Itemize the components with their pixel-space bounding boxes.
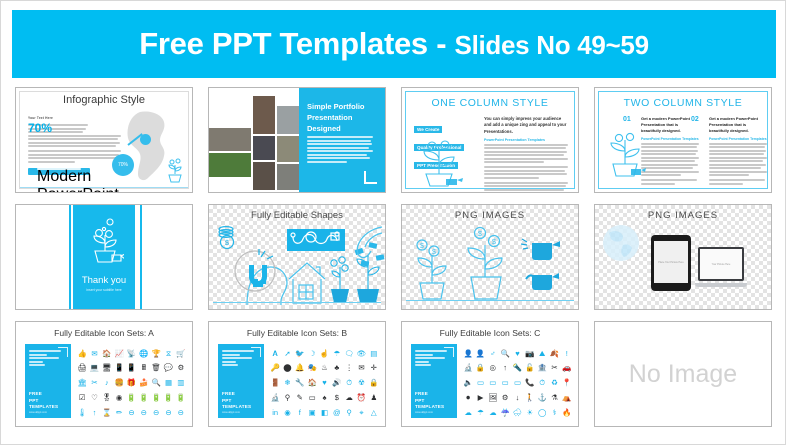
icon-mountain[interactable]: ⛰ bbox=[539, 350, 545, 358]
plant-icon bbox=[164, 158, 186, 184]
icon-image[interactable]: 🖼 bbox=[488, 394, 498, 402]
slide-thumb-icon-sets-b[interactable]: Fully Editable Icon Sets: B FREE P bbox=[208, 321, 386, 427]
slide-title: PNG IMAGES bbox=[402, 210, 578, 221]
card-url: www.allppt.com bbox=[415, 411, 433, 414]
icon-dots-vertical[interactable]: ⋮ bbox=[345, 364, 353, 372]
icon-circle-filled[interactable]: ⬤ bbox=[283, 364, 291, 372]
slide-thumb-png-images-devices[interactable]: PNG IMAGES Place Your Picture Here Your … bbox=[594, 204, 772, 310]
baseline-rule bbox=[213, 302, 381, 303]
icon-circle-outline[interactable]: ◯ bbox=[538, 409, 546, 417]
icon-cross[interactable]: ✛ bbox=[371, 364, 377, 372]
slide-catalog-page: Free PPT Templates - Slides No 49~59 Inf… bbox=[0, 0, 786, 445]
slide-row-3: Fully Editable Icon Sets: A FREE P bbox=[1, 319, 786, 432]
icon-heart[interactable]: ♡ bbox=[91, 394, 98, 402]
icon-chat[interactable]: 💬 bbox=[164, 364, 173, 372]
icon-emoji-5[interactable]: ⊖ bbox=[178, 409, 184, 417]
accent-rule-left bbox=[69, 205, 71, 309]
banner-title-sub: Slides No 49~59 bbox=[455, 30, 649, 60]
icon-hourglass[interactable]: ⧖ bbox=[166, 350, 171, 358]
plant-illustration bbox=[412, 140, 466, 192]
watering-can-icon bbox=[522, 267, 560, 293]
icon-umbrella[interactable]: ☂ bbox=[333, 350, 340, 358]
portfolio-title-line: Presentation bbox=[307, 113, 377, 124]
icon-cloud[interactable]: ☁ bbox=[345, 394, 353, 402]
laptop-lid: Your Picture Here bbox=[698, 247, 744, 281]
icon-emoji-4[interactable]: ⊖ bbox=[165, 409, 171, 417]
icon-target-2[interactable]: ◎ bbox=[490, 364, 497, 372]
icon-cloud-1[interactable]: ☁ bbox=[464, 409, 472, 417]
slide-thumb-two-column-style[interactable]: TWO COLUMN STYLE 01 Get a modern PowerPo… bbox=[594, 87, 772, 193]
content-column-1: 01 Get a modern PowerPoint Presentation … bbox=[641, 116, 699, 186]
slide-thumb-infographic-style[interactable]: Infographic Style Your Text Here 70% bbox=[15, 87, 193, 193]
slide-title: TWO COLUMN STYLE bbox=[595, 97, 771, 109]
card-feature-lines bbox=[415, 350, 449, 368]
slide-row-2: Thank you insert your subtitle here Full… bbox=[1, 202, 786, 315]
icon-printer[interactable]: 🖨 bbox=[77, 364, 87, 372]
icon-steam[interactable]: ♨ bbox=[321, 364, 328, 372]
icon-thumbs-up[interactable]: 👍 bbox=[77, 350, 86, 358]
icon-anchor[interactable]: ⚓ bbox=[537, 394, 546, 402]
icon-play-box[interactable]: ▶ bbox=[478, 394, 484, 402]
icon-walking[interactable]: 🚶 bbox=[525, 394, 534, 402]
body-paragraph bbox=[484, 182, 568, 192]
icon-microscope[interactable]: 🔬 bbox=[270, 394, 279, 402]
icon-location-pin[interactable]: 📍 bbox=[562, 379, 571, 387]
icon-card[interactable]: ▭ bbox=[309, 394, 316, 402]
svg-text:$: $ bbox=[478, 229, 483, 238]
icon-pin[interactable]: ⚲ bbox=[346, 409, 352, 417]
icon-emoji-2[interactable]: ⊖ bbox=[141, 409, 147, 417]
icon-checkbox[interactable]: ☑ bbox=[79, 394, 86, 402]
column-subheading: PowerPoint Presentation Templates bbox=[641, 137, 699, 141]
icon-sun[interactable]: ☀ bbox=[526, 409, 533, 417]
slide-thumb-icon-sets-c[interactable]: Fully Editable Icon Sets: C FREE P bbox=[401, 321, 579, 427]
icon-lock[interactable]: 🔒 bbox=[369, 379, 378, 387]
icon-cake[interactable]: 🍰 bbox=[139, 379, 148, 387]
icon-exclamation[interactable]: ! bbox=[566, 350, 568, 358]
icon-triangle[interactable]: △ bbox=[371, 409, 377, 417]
icon-emoji-3[interactable]: ⊖ bbox=[153, 409, 159, 417]
card-feature-lines bbox=[29, 350, 63, 368]
cta-button-label: Modern PowerPoint Presentation bbox=[37, 168, 81, 170]
plant-icon bbox=[601, 132, 649, 178]
icon-flashlight[interactable]: 🔦 bbox=[513, 364, 522, 372]
column-heading: Get a modern PowerPoint Presentation tha… bbox=[709, 116, 767, 134]
body-column: You can simply impress your audience and… bbox=[484, 116, 568, 192]
icon-padlock[interactable]: 🔒 bbox=[476, 364, 485, 372]
portfolio-title-line: Designed bbox=[307, 124, 377, 135]
icon-facebook[interactable]: f bbox=[299, 409, 301, 417]
icon-trash[interactable]: 🗑 bbox=[151, 364, 161, 372]
plant-icon bbox=[412, 140, 466, 188]
thank-you-title: Thank you bbox=[73, 275, 135, 286]
icon-monitor[interactable]: 🖥 bbox=[102, 364, 112, 372]
head-magnet-idea-icon bbox=[229, 243, 293, 305]
icon-linkedin[interactable]: in bbox=[272, 409, 278, 417]
icon-record[interactable]: ⏺ bbox=[466, 394, 470, 402]
header-banner: Free PPT Templates - Slides No 49~59 bbox=[12, 10, 776, 78]
slide-thumb-thank-you[interactable]: Thank you insert your subtitle here bbox=[15, 204, 193, 310]
icon-globe[interactable]: 🌐 bbox=[139, 350, 148, 358]
collage-photo bbox=[253, 136, 275, 160]
icon-spade[interactable]: ♠ bbox=[323, 394, 327, 402]
highlight-item: We Create bbox=[414, 126, 442, 133]
icon-leaf[interactable]: 🍂 bbox=[550, 350, 559, 358]
icon-hourglass-2[interactable]: ⌛ bbox=[102, 409, 111, 417]
icon-lab[interactable]: ⚗ bbox=[551, 394, 558, 402]
icon-arrow-up[interactable]: ↑ bbox=[93, 409, 97, 417]
icon-battery-4[interactable]: 🔋 bbox=[164, 394, 173, 402]
column-number: 02 bbox=[691, 116, 699, 123]
network-banner bbox=[287, 229, 345, 251]
body-subheading: PowerPoint Presentation Templates bbox=[484, 138, 568, 142]
icon-volume[interactable]: 🔈 bbox=[463, 379, 472, 387]
icon-music-note[interactable]: ♪ bbox=[105, 379, 109, 387]
body-paragraph-1 bbox=[28, 135, 123, 148]
slide-canvas: Thank you insert your subtitle here bbox=[16, 205, 192, 309]
icon-fire[interactable]: 🔥 bbox=[562, 409, 571, 417]
money-plant-icon: $ $ bbox=[410, 237, 458, 303]
icon-bird[interactable]: 🐦 bbox=[295, 350, 304, 358]
slide-thumb-one-column-style[interactable]: ONE COLUMN STYLE We Create Quality Profe… bbox=[401, 87, 579, 193]
icon-arrow-up-2[interactable]: ↑ bbox=[503, 364, 507, 372]
icon-battery-d[interactable]: ▭ bbox=[514, 379, 521, 387]
slide-canvas: Fully Editable Icon Sets: C FREE P bbox=[402, 322, 578, 426]
icon-grid: 👤 👤 ♂ 🔍 ♥ 📷 ⛰ 🍂 ! 🔬 🔒 ◎ ↑ 🔦 bbox=[462, 346, 573, 420]
icon-search[interactable]: 🔍 bbox=[151, 379, 160, 387]
icon-pen[interactable]: ✎ bbox=[297, 394, 303, 402]
collage-photo bbox=[209, 153, 251, 177]
slide-canvas: PNG IMAGES Place Your Picture Here Your … bbox=[595, 205, 771, 309]
watering-can-icon bbox=[520, 235, 562, 261]
icon-building[interactable]: 🏦 bbox=[537, 364, 546, 372]
icon-speech-bubble[interactable]: 🗨 bbox=[344, 350, 354, 358]
thank-you-subtitle: insert your subtitle here bbox=[73, 288, 135, 292]
icon-media-box[interactable]: ◧ bbox=[321, 409, 328, 417]
brand-card: FREE PPT TEMPLATES www.allppt.com bbox=[218, 344, 264, 418]
column-subheading: PowerPoint Presentation Templates bbox=[709, 137, 767, 141]
slide-thumb-fully-editable-shapes[interactable]: Fully Editable Shapes $ bbox=[208, 204, 386, 310]
card-url: www.allppt.com bbox=[29, 411, 47, 414]
slide-canvas: TWO COLUMN STYLE 01 Get a modern PowerPo… bbox=[595, 88, 771, 192]
icon-grid-view[interactable]: ▦ bbox=[165, 379, 172, 387]
icon-stopwatch[interactable]: ⏱ bbox=[346, 379, 352, 387]
portfolio-body bbox=[307, 136, 373, 164]
icon-calculator[interactable]: 🖩 bbox=[142, 364, 147, 372]
slide-title: Infographic Style bbox=[16, 94, 192, 106]
icon-recycle[interactable]: ♻ bbox=[551, 379, 558, 387]
column-paragraph bbox=[709, 179, 767, 185]
icon-search-2[interactable]: 🔍 bbox=[500, 350, 509, 358]
icon-cloud-rain[interactable]: ☔ bbox=[500, 409, 509, 417]
svg-text:$: $ bbox=[432, 249, 436, 256]
icon-heart-3[interactable]: ♥ bbox=[515, 350, 519, 358]
icon-laptop[interactable]: 💻 bbox=[90, 364, 99, 372]
card-brand: FREE PPT TEMPLATES bbox=[222, 391, 251, 410]
icon-hand-point[interactable]: ☝ bbox=[320, 350, 329, 358]
body-paragraph bbox=[484, 166, 568, 179]
icon-radiation[interactable]: ☢ bbox=[358, 379, 365, 387]
slide-thumb-no-image[interactable]: No Image bbox=[594, 321, 772, 427]
icon-door[interactable]: 🚪 bbox=[270, 379, 279, 387]
portfolio-title: Simple Portfolio Presentation Designed bbox=[307, 102, 377, 135]
baseline-rule bbox=[20, 187, 188, 188]
icon-social-circle[interactable]: ◉ bbox=[284, 409, 291, 417]
column-paragraph bbox=[709, 143, 767, 177]
icon-battery-c[interactable]: ▭ bbox=[502, 379, 509, 387]
slide-title: Fully Editable Icon Sets: A bbox=[16, 328, 192, 338]
icon-flask[interactable]: 🔬 bbox=[463, 364, 472, 372]
icon-battery-2[interactable]: 🔋 bbox=[139, 394, 148, 402]
card-feature-lines bbox=[222, 350, 256, 368]
baseline-rule bbox=[406, 300, 574, 301]
map-marker-dot bbox=[140, 134, 151, 145]
money-plant-large-icon: $ $ bbox=[458, 225, 514, 303]
icon-camera[interactable]: 📷 bbox=[525, 350, 534, 358]
plant-illustration bbox=[601, 132, 649, 183]
icon-chart[interactable]: 📈 bbox=[114, 350, 123, 358]
icon-list-view[interactable]: ▥ bbox=[177, 379, 184, 387]
icon-circle[interactable]: ◉ bbox=[116, 394, 123, 402]
collage-photo bbox=[253, 96, 275, 134]
slide-canvas: ONE COLUMN STYLE We Create Quality Profe… bbox=[402, 88, 578, 192]
collage-photo bbox=[253, 162, 275, 190]
plant-icon bbox=[86, 217, 124, 267]
photo-collage-area bbox=[209, 88, 301, 192]
slide-title: Fully Editable Shapes bbox=[209, 210, 385, 221]
slide-thumb-icon-sets-a[interactable]: Fully Editable Icon Sets: A FREE P bbox=[15, 321, 193, 427]
card-brand-line: TEMPLATES bbox=[29, 404, 58, 410]
icon-person-female[interactable]: 👤 bbox=[476, 350, 485, 358]
cta-button[interactable]: Modern PowerPoint Presentation bbox=[28, 168, 90, 175]
icon-arrow-diagonal[interactable]: ➚ bbox=[284, 350, 290, 358]
banner-title: Free PPT Templates - Slides No 49~59 bbox=[139, 26, 649, 62]
accent-rule-right bbox=[140, 205, 142, 309]
icon-key[interactable]: 🔑 bbox=[270, 364, 279, 372]
icon-phone[interactable]: 📱 bbox=[114, 364, 123, 372]
icon-tent[interactable]: ⛺ bbox=[562, 394, 571, 402]
card-brand: FREE PPT TEMPLATES bbox=[29, 391, 58, 410]
icon-cart[interactable]: 🛒 bbox=[176, 350, 185, 358]
slide-canvas: Infographic Style Your Text Here 70% bbox=[16, 88, 192, 192]
slide-canvas: No Image bbox=[595, 322, 771, 426]
icon-cloud-3[interactable]: ☁ bbox=[489, 409, 497, 417]
icon-chess-pawn[interactable]: ♟ bbox=[370, 394, 377, 402]
slide-title: Fully Editable Icon Sets: B bbox=[209, 328, 385, 338]
icon-battery-a[interactable]: ▭ bbox=[477, 379, 484, 387]
icon-moon[interactable]: ☽ bbox=[309, 350, 316, 358]
laptop-device: Your Picture Here bbox=[695, 247, 747, 287]
icon-target[interactable]: ⌖ bbox=[359, 409, 363, 417]
column-paragraph bbox=[641, 143, 699, 177]
icon-mask[interactable]: 🎭 bbox=[307, 364, 316, 372]
icon-dollar[interactable]: $ bbox=[335, 394, 339, 402]
icon-cloud-2[interactable]: ☂ bbox=[477, 409, 484, 417]
icon-gear[interactable]: ⚙ bbox=[177, 364, 184, 372]
icon-cloud-storm[interactable]: 🌧 bbox=[513, 409, 523, 417]
slide-title: Fully Editable Icon Sets: C bbox=[402, 328, 578, 338]
icon-telephone[interactable]: 📞 bbox=[525, 379, 534, 387]
laptop-base bbox=[695, 283, 747, 287]
slide-canvas: Fully Editable Icon Sets: B FREE P bbox=[209, 322, 385, 426]
slide-canvas: Simple Portfolio Presentation Designed bbox=[209, 88, 385, 192]
icon-scissors-2[interactable]: ✂ bbox=[551, 364, 557, 372]
card-brand-line: TEMPLATES bbox=[222, 404, 251, 410]
icon-bank[interactable]: 🏛 bbox=[77, 379, 87, 387]
brand-card: FREE PPT TEMPLATES www.allppt.com bbox=[411, 344, 457, 418]
column-number: 01 bbox=[623, 116, 631, 123]
icon-scissors[interactable]: ✂ bbox=[91, 379, 97, 387]
icon-wrench[interactable]: 🔧 bbox=[295, 379, 304, 387]
icon-emoji-1[interactable]: ⊖ bbox=[128, 409, 134, 417]
icon-mail[interactable]: ✉ bbox=[358, 364, 364, 372]
globe-icon bbox=[601, 223, 641, 263]
icon-signal[interactable]: 📡 bbox=[127, 350, 136, 358]
icon-battery-5[interactable]: 🔋 bbox=[176, 394, 185, 402]
slide-title: PNG IMAGES bbox=[595, 210, 771, 221]
icon-house[interactable]: 🏠 bbox=[307, 379, 316, 387]
card-url: www.allppt.com bbox=[222, 411, 240, 414]
hand-icon bbox=[349, 225, 383, 265]
column-paragraph bbox=[641, 179, 699, 185]
banner-title-main: Free PPT Templates bbox=[139, 26, 428, 61]
icon-medical[interactable]: ⚕ bbox=[552, 409, 556, 417]
icon-burger[interactable]: 🍔 bbox=[114, 379, 123, 387]
icon-thermometer[interactable]: 🌡 bbox=[77, 409, 87, 417]
icon-eye[interactable]: 👁 bbox=[357, 350, 367, 358]
icon-clover[interactable]: ♣ bbox=[334, 364, 339, 372]
icon-battery-b[interactable]: ▭ bbox=[489, 379, 496, 387]
icon-bell[interactable]: 🔔 bbox=[295, 364, 304, 372]
slide-grid: Infographic Style Your Text Here 70% bbox=[1, 85, 786, 443]
icon-medal[interactable]: 🎖 bbox=[102, 394, 112, 402]
icon-arrow-down[interactable]: ↓ bbox=[516, 394, 520, 402]
corner-accent bbox=[364, 171, 377, 184]
slide-canvas: Fully Editable Shapes $ bbox=[209, 205, 385, 309]
brand-card: FREE PPT TEMPLATES www.allppt.com bbox=[25, 344, 71, 418]
icon-pencil[interactable]: ✏ bbox=[116, 409, 122, 417]
slide-canvas: PNG IMAGES $ $ bbox=[402, 205, 578, 309]
portfolio-text-panel: Simple Portfolio Presentation Designed bbox=[299, 88, 385, 192]
icon-person-male[interactable]: 👤 bbox=[463, 350, 472, 358]
card-brand: FREE PPT TEMPLATES bbox=[415, 391, 444, 410]
tablet-screen-label: Place Your Picture Here bbox=[654, 241, 688, 283]
collage-photo bbox=[209, 128, 251, 151]
house-icon bbox=[285, 257, 329, 305]
icon-unlock[interactable]: 🔓 bbox=[525, 364, 534, 372]
icon-car[interactable]: 🚗 bbox=[562, 364, 571, 372]
icon-book[interactable]: ▤ bbox=[370, 350, 377, 358]
icon-grid: 𝐀 ➚ 🐦 ☽ ☝ ☂ 🗨 👁 ▤ 🔑 ⬤ 🔔 🎭 ♨ bbox=[269, 346, 380, 420]
icon-envelope[interactable]: ✉ bbox=[91, 350, 97, 358]
icon-twitter-box[interactable]: ▣ bbox=[309, 409, 316, 417]
icon-home[interactable]: 🏠 bbox=[102, 350, 111, 358]
svg-text:$: $ bbox=[420, 243, 424, 250]
portfolio-title-line: Simple Portfolio bbox=[307, 102, 377, 113]
icon-trophy[interactable]: 🏆 bbox=[151, 350, 160, 358]
icon-gift[interactable]: 🎁 bbox=[127, 379, 136, 387]
icon-at-sign[interactable]: @ bbox=[333, 409, 341, 417]
card-brand-line: TEMPLATES bbox=[415, 404, 444, 410]
icon-settings[interactable]: ⚙ bbox=[502, 394, 509, 402]
slide-canvas: Fully Editable Icon Sets: A FREE P bbox=[16, 322, 192, 426]
svg-text:$: $ bbox=[492, 237, 497, 246]
icon-snowflake[interactable]: ❄ bbox=[284, 379, 290, 387]
network-icon bbox=[287, 229, 345, 251]
slide-title: ONE COLUMN STYLE bbox=[402, 97, 578, 109]
icon-tablet[interactable]: 📱 bbox=[127, 364, 136, 372]
content-column-2: 02 Get a modern PowerPoint Presentation … bbox=[709, 116, 767, 186]
laptop-screen-label: Your Picture Here bbox=[700, 249, 742, 279]
infographic-text-block: Your Text Here 70% bbox=[28, 116, 123, 175]
no-image-placeholder-label: No Image bbox=[629, 360, 737, 389]
slide-thumb-simple-portfolio[interactable]: Simple Portfolio Presentation Designed bbox=[208, 87, 386, 193]
icon-timer[interactable]: ⏱ bbox=[539, 379, 545, 387]
icon-heart-2[interactable]: ♥ bbox=[322, 379, 326, 387]
stat-value: 70% bbox=[28, 122, 52, 134]
icon-battery-1[interactable]: 🔋 bbox=[127, 394, 136, 402]
icon-letter-a[interactable]: 𝐀 bbox=[273, 350, 278, 358]
icon-battery-3[interactable]: 🔋 bbox=[151, 394, 160, 402]
tablet-device: Place Your Picture Here bbox=[651, 235, 691, 291]
icon-grid: 👍 ✉ 🏠 📈 📡 🌐 🏆 ⧖ 🛒 🖨 💻 🖥 📱 📱 bbox=[76, 346, 187, 420]
text-kicker: Your Text Here bbox=[28, 116, 123, 120]
icon-gender-male[interactable]: ♂ bbox=[490, 350, 496, 358]
body-paragraph bbox=[484, 144, 568, 164]
percent-bubble: 70% bbox=[112, 154, 134, 176]
slide-row-1: Infographic Style Your Text Here 70% bbox=[1, 85, 786, 198]
icon-alarm[interactable]: ⏰ bbox=[357, 394, 366, 402]
body-heading: You can simply impress your audience and… bbox=[484, 116, 568, 135]
slide-thumb-png-images-plants[interactable]: PNG IMAGES $ $ bbox=[401, 204, 579, 310]
body-paragraph-2 bbox=[28, 150, 123, 163]
icon-speaker[interactable]: 🔊 bbox=[332, 379, 341, 387]
banner-title-separator: - bbox=[428, 26, 455, 61]
icon-magnifier[interactable]: ⚲ bbox=[285, 394, 291, 402]
